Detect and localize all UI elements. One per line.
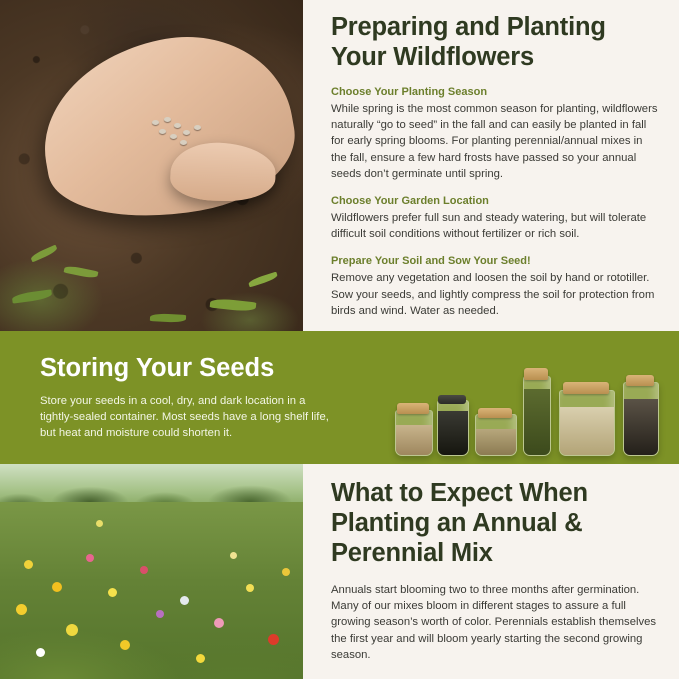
jar-lid	[438, 395, 466, 404]
meadow-grass	[0, 502, 303, 679]
seed-storage-jars-photo	[377, 331, 667, 464]
page-title: Preparing and Planting Your Wildflowers	[331, 0, 661, 72]
jar-contents	[624, 399, 658, 455]
flower	[86, 554, 94, 562]
flower	[140, 566, 148, 574]
seed	[152, 120, 159, 125]
seed	[194, 125, 201, 130]
section-what-to-expect: What to Expect When Planting an Annual &…	[0, 464, 679, 679]
hand-sowing-seeds-photo	[0, 0, 303, 331]
flower	[180, 596, 189, 605]
seed	[164, 117, 171, 122]
storing-seeds-text-column: Storing Your Seeds Store your seeds in a…	[40, 331, 340, 442]
jar-contents	[438, 411, 468, 455]
flower	[214, 618, 224, 628]
jar	[395, 410, 433, 456]
section-preparing-planting: Preparing and Planting Your Wildflowers …	[0, 0, 679, 331]
thumb-shape	[170, 141, 277, 203]
seed	[183, 130, 190, 135]
wildflower-meadow-photo	[0, 464, 303, 679]
storing-seeds-body: Store your seeds in a cool, dry, and dar…	[40, 383, 340, 442]
flower	[36, 648, 45, 657]
preparing-planting-text-column: Preparing and Planting Your Wildflowers …	[331, 0, 661, 331]
what-to-expect-title: What to Expect When Planting an Annual &…	[331, 464, 661, 568]
subhead-prepare-soil: Prepare Your Soil and Sow Your Seed!	[331, 242, 661, 267]
seed	[159, 129, 166, 134]
seed	[170, 134, 177, 139]
seed	[180, 140, 187, 145]
flower	[52, 582, 62, 592]
flower	[268, 634, 279, 645]
flower	[156, 610, 164, 618]
jar	[559, 390, 615, 456]
seeds-group	[150, 116, 208, 150]
storing-seeds-title: Storing Your Seeds	[40, 331, 340, 383]
infographic-page: Preparing and Planting Your Wildflowers …	[0, 0, 679, 679]
jar-contents	[560, 407, 614, 455]
flower	[120, 640, 130, 650]
flower	[282, 568, 290, 576]
flower	[96, 520, 103, 527]
section-storing-seeds: Storing Your Seeds Store your seeds in a…	[0, 331, 679, 464]
cork-stopper	[478, 408, 512, 418]
what-to-expect-body: Annuals start blooming two to three mont…	[331, 568, 661, 663]
flower	[108, 588, 117, 597]
jar	[437, 400, 469, 456]
cork-stopper	[626, 375, 654, 386]
flower	[66, 624, 78, 636]
body-prepare-soil: Remove any vegetation and loosen the soi…	[331, 267, 661, 319]
seed	[174, 123, 181, 128]
what-to-expect-text-column: What to Expect When Planting an Annual &…	[331, 464, 661, 663]
cork-stopper	[563, 382, 609, 394]
flower	[246, 584, 254, 592]
jar	[623, 382, 659, 456]
flower	[196, 654, 205, 663]
flower	[230, 552, 237, 559]
jar	[523, 376, 551, 456]
subhead-garden-location: Choose Your Garden Location	[331, 182, 661, 207]
jar-contents	[476, 429, 516, 455]
cork-stopper	[524, 368, 548, 380]
body-garden-location: Wildflowers prefer full sun and steady w…	[331, 207, 661, 242]
body-planting-season: While spring is the most common season f…	[331, 98, 661, 182]
flower	[16, 604, 27, 615]
jar-contents	[396, 425, 432, 455]
cork-stopper	[397, 403, 429, 414]
subhead-planting-season: Choose Your Planting Season	[331, 72, 661, 98]
jar	[475, 414, 517, 456]
jar-contents	[524, 389, 550, 455]
flower	[24, 560, 33, 569]
